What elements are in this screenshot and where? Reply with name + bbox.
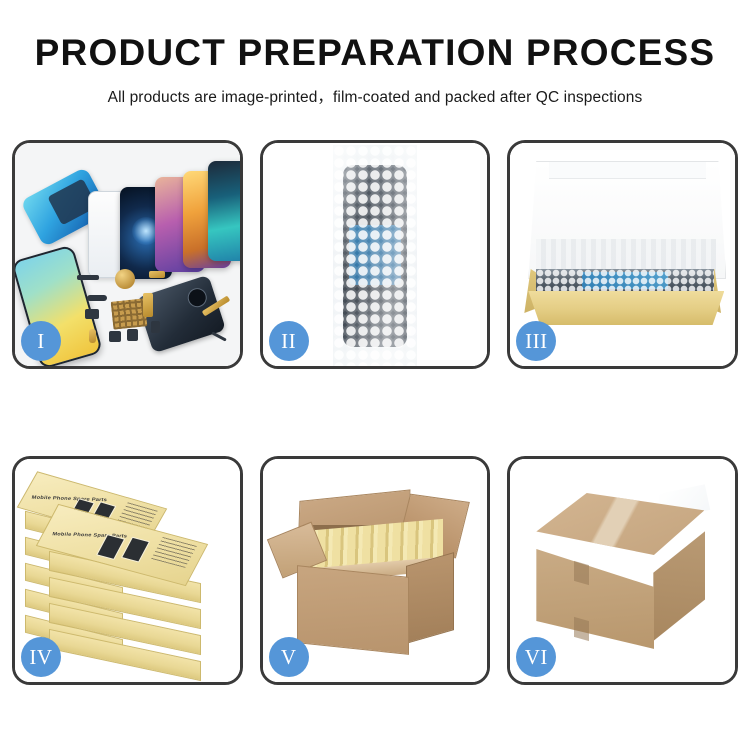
plastic-sheen-overlay [333, 145, 417, 366]
small-chip-icon [151, 321, 160, 333]
step-card-6: VI [507, 456, 738, 685]
step-badge-4: IV [21, 637, 61, 677]
step-card-2: II [260, 140, 491, 369]
page-subtitle: All products are image-printed，film-coat… [0, 85, 750, 107]
button-part-icon [109, 331, 121, 342]
step-badge-1: I [21, 321, 61, 361]
connector-part-icon [85, 309, 99, 319]
product-preparation-infographic: PRODUCT PREPARATION PROCESS All products… [0, 0, 750, 750]
box-label-text: Mobile Phone Spare Parts [31, 495, 108, 503]
chip-part-icon [77, 275, 99, 280]
box-spec-lines [151, 537, 197, 568]
step-card-4: Mobile Phone Spare Parts Mobile Pho [12, 456, 243, 685]
header: PRODUCT PREPARATION PROCESS All products… [0, 0, 750, 107]
flex-cable-2-icon [143, 293, 153, 317]
step-card-1: I [12, 140, 243, 369]
flex-cable-icon [149, 271, 165, 278]
phone-screen-teal-icon [208, 161, 240, 261]
carton-handle-tab-icon [574, 561, 589, 585]
screwdriver-icon [211, 331, 227, 341]
step-badge-2: II [269, 321, 309, 361]
mailer-front-panel-icon [528, 291, 724, 325]
packed-bubble-overlay [536, 269, 714, 293]
speaker-part-icon [115, 269, 135, 289]
page-title: PRODUCT PREPARATION PROCESS [0, 34, 750, 71]
camera-part-icon [87, 295, 107, 301]
step-card-3: III [507, 140, 738, 369]
screw-tray-icon [111, 298, 148, 329]
carton-front-panel-icon [297, 565, 409, 655]
carton-handle-tab-icon [574, 617, 589, 641]
sim-tray-icon [89, 329, 96, 343]
steps-grid: I II [12, 140, 738, 695]
taptic-part-icon [127, 329, 138, 341]
carton-left-panel-icon [536, 549, 654, 649]
carton-side-panel-icon [406, 552, 454, 644]
step-badge-5: V [269, 637, 309, 677]
box-screen-print-icon [121, 537, 150, 563]
step-card-5: V [260, 456, 491, 685]
